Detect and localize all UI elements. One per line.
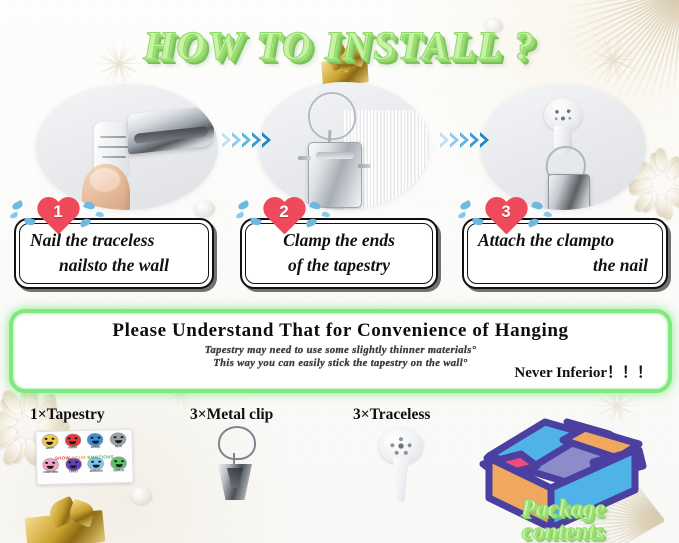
emoji-mouth — [46, 442, 53, 445]
water-drops-right-3 — [528, 200, 558, 230]
chevron-right-icon — [440, 132, 449, 148]
drop-icon — [237, 200, 250, 211]
drop-icon — [471, 216, 484, 226]
emoji-caption: CONFUSED — [43, 472, 58, 475]
straw-line — [566, 0, 679, 16]
package-contents-caption: Package contents — [473, 497, 653, 543]
drop-icon — [83, 200, 96, 210]
poster-title-container: HOW TO INSTALL ? — [0, 22, 679, 69]
drop-icon — [305, 217, 318, 227]
drop-icon — [95, 211, 104, 218]
step-3-number: 3 — [484, 202, 528, 222]
step-2: 2 Clamp the ends of the tapestry — [240, 196, 438, 289]
straw-line — [568, 0, 679, 8]
drop-icon — [457, 212, 466, 220]
package-caption-line-2: contents — [473, 520, 653, 543]
drop-icon — [527, 217, 540, 227]
emoji-mouth — [115, 440, 122, 443]
drop-icon — [531, 200, 544, 210]
traceless-nail-product-icon — [375, 428, 427, 502]
hook-line-3 — [102, 156, 126, 158]
notice-subtitle-1: Tapestry may need to use some slightly t… — [13, 345, 668, 356]
nail-pad-icon — [90, 168, 120, 192]
emoji-mouth — [70, 465, 77, 468]
traceless-nail-body — [391, 458, 411, 502]
chevron-right-icon — [222, 132, 231, 148]
chevron-right-icon — [252, 132, 261, 148]
drop-icon — [9, 212, 18, 220]
clip-body — [218, 464, 252, 500]
emoji-mouth — [69, 441, 76, 444]
emoji-band-word: EMOTIONS — [87, 454, 114, 460]
clip-arm-right — [358, 164, 371, 168]
steel-hook-icon — [128, 105, 214, 154]
step-2-line-2: of the tapestry — [252, 253, 426, 278]
drop-icon — [79, 217, 92, 227]
chevron-right-icon — [470, 132, 479, 148]
arrow-group-step2-to-step3 — [440, 132, 489, 148]
emoji-band-word: YOUR — [72, 454, 86, 459]
package-item-label-traceless: 3×Traceless — [353, 406, 430, 424]
drop-icon — [249, 216, 262, 226]
step-captions-row: 1 Nail the traceless nailsto the wall — [0, 196, 679, 296]
emoji-caption: ANGRY — [68, 447, 77, 450]
step-3-badge: 3 — [484, 196, 528, 236]
step-1-badge: 1 — [36, 196, 80, 236]
emoji-cell: CONFUSED — [40, 459, 61, 482]
emoji-caption: FEAR — [115, 446, 122, 449]
step-1-line-2: nailsto the wall — [26, 253, 202, 278]
chevron-right-icon — [480, 132, 489, 148]
emoji-face-icon — [111, 433, 126, 445]
emoji-mouth — [47, 466, 54, 469]
emoji-caption: CRAZY — [69, 471, 78, 474]
never-inferior-label: Never Inferior！！！ — [514, 361, 652, 382]
step-3: 3 Attach the clampto the nail — [462, 196, 668, 289]
how-to-install-poster: HOW TO INSTALL ? — [0, 0, 679, 543]
drop-icon — [11, 200, 24, 211]
chevron-right-icon — [460, 132, 469, 148]
drop-icon — [459, 200, 472, 211]
clip-loop — [218, 426, 256, 460]
emoji-mouth — [115, 464, 122, 467]
step-3-line-2: the nail — [474, 253, 656, 278]
chevron-right-icon — [262, 132, 271, 148]
emoji-band-word: SHOW — [55, 455, 70, 460]
package-item-label-metal-clip: 3×Metal clip — [190, 406, 273, 424]
emoji-caption: BORED — [91, 447, 100, 450]
arrow-group-step1-to-step2 — [222, 132, 271, 148]
step-2-badge: 2 — [262, 196, 306, 236]
emoji-mouth — [93, 465, 100, 468]
drop-icon — [309, 200, 322, 210]
emoji-face-icon — [65, 434, 80, 446]
notice-title: Please Understand That for Convenience o… — [13, 320, 668, 342]
emoji-caption: HAPPY — [46, 448, 55, 451]
drop-icon — [235, 212, 244, 220]
package-contents-section: 1×Tapestry 3×Metal clip 3×Traceless HAPP… — [0, 392, 679, 543]
emoji-mouth — [92, 441, 99, 444]
drop-icon — [23, 216, 36, 226]
hook-line-1 — [100, 136, 126, 138]
page-title: HOW TO INSTALL ? — [143, 22, 535, 69]
package-item-label-tapestry: 1×Tapestry — [30, 406, 105, 424]
step-1-number: 1 — [36, 202, 80, 222]
emoji-cell: SHOCKED — [86, 457, 107, 480]
emoji-cell: DISPLAY — [108, 457, 129, 480]
step-photos-row — [0, 80, 679, 212]
step-3-photo — [480, 84, 646, 210]
chevron-right-icon — [450, 132, 459, 148]
chevron-right-icon — [232, 132, 241, 148]
water-drops-right-2 — [306, 200, 336, 230]
emoji-caption: SHOCKED — [90, 471, 103, 474]
emoji-caption: DISPLAY — [113, 470, 124, 473]
hanging-notice-box: Please Understand That for Convenience o… — [9, 309, 672, 393]
water-drops-right-1 — [80, 200, 110, 230]
step-2-number: 2 — [262, 202, 306, 222]
clip-arm-left — [298, 156, 311, 160]
drop-icon — [321, 211, 330, 218]
tapestry-thumbnail: HAPPYANGRYBOREDFEARCONFUSEDCRAZYSHOCKEDD… — [35, 429, 133, 485]
chevron-right-icon — [242, 132, 251, 148]
step-1-photo — [36, 84, 218, 210]
step-2-photo — [258, 82, 430, 210]
emoji-cell: CRAZY — [63, 458, 84, 481]
metal-clip-product-icon — [210, 426, 262, 500]
emoji-face-icon — [42, 435, 57, 447]
step-1: 1 Nail the traceless nailsto the wall — [14, 196, 214, 289]
drop-icon — [543, 211, 552, 218]
emoji-face-icon — [88, 434, 103, 446]
hook-line-2 — [98, 146, 128, 148]
